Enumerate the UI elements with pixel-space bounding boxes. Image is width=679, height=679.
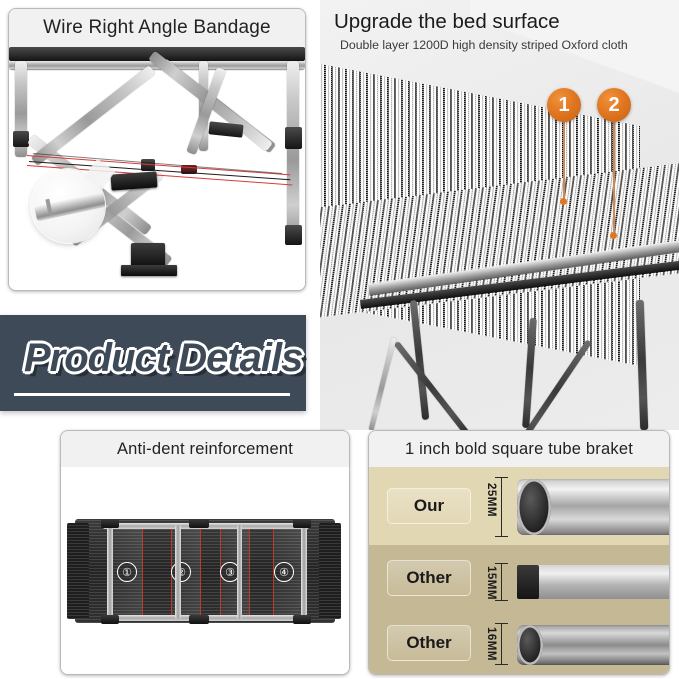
dent-marker-4: ④ [274, 562, 294, 582]
tube-cap-other-2 [517, 625, 543, 665]
tube-dimension-our: 25MM [485, 483, 497, 517]
cot-clip-bot-1 [101, 615, 119, 624]
dent-marker-2: ② [171, 562, 191, 582]
dim-bar-other-1 [501, 563, 502, 601]
dim-bar-other-2 [501, 623, 502, 665]
leg-left-cap [13, 131, 29, 147]
product-details-title: Product Details [24, 336, 306, 381]
wire-bandage-header: Wire Right Angle Bandage [9, 9, 305, 48]
anti-dent-title: Anti-dent reinforcement [117, 440, 293, 459]
tube-row-label-other-2: Other [387, 625, 471, 661]
cot-clip-top-2 [189, 519, 209, 528]
dim-cap-o1-top [495, 563, 508, 564]
dim-cap-o2-top [495, 623, 508, 624]
foot-center [110, 171, 157, 190]
leg-right [287, 61, 299, 241]
frame-brace-diagonal-1 [394, 341, 473, 430]
callout-dot-1 [560, 198, 567, 205]
tube-dimension-other-2: 16MM [485, 627, 497, 661]
tube-cap-other-1 [517, 565, 539, 599]
leg-right-cap-bottom [285, 225, 302, 245]
tube-cap-our [517, 479, 551, 535]
callout-number-2: 2 [608, 94, 619, 117]
dent-marker-label-4: ④ [279, 566, 289, 579]
cot-clip-bot-3 [293, 615, 311, 624]
dim-cap-o1-bottom [495, 600, 508, 601]
tube-dimension-other-1: 15MM [485, 566, 497, 600]
tube-bracket-panel: 1 inch bold square tube braket Our 25MM … [368, 430, 670, 675]
dim-bar-our [501, 477, 502, 537]
wire-bandage-panel: Wire Right Angle Bandage [8, 8, 306, 291]
cot-clip-top-3 [293, 519, 311, 528]
bed-surface-section: 1 2 Upgrade the bed surface Double layer… [320, 0, 679, 430]
cot-leg-4 [301, 525, 307, 619]
dent-marker-1: ① [117, 562, 137, 582]
joint-right [208, 121, 243, 137]
callout-number-1: 1 [558, 94, 569, 117]
tube-shape-other-1 [517, 565, 669, 599]
dim-cap-our-top [495, 477, 508, 478]
callout-leader-1 [563, 118, 565, 202]
tube-comparison-body: Our 25MM Other 15MM Other [369, 467, 669, 674]
leg-right-cap-top [285, 127, 302, 149]
cot-leg-2 [175, 525, 181, 619]
product-details-banner: Product Details [0, 315, 306, 411]
cot-leg-1 [107, 525, 113, 619]
cot-clip-top-1 [101, 519, 119, 528]
scissor-arm-2 [31, 65, 156, 166]
anti-dent-photo: ① ② ③ ④ [61, 467, 349, 674]
foot-bottom-plate [121, 265, 177, 276]
wire-bandage-photo [9, 47, 305, 290]
bed-surface-title: Upgrade the bed surface [334, 10, 560, 34]
anti-dent-panel: Anti-dent reinforcement ① ② ③ ④ [60, 430, 350, 675]
dent-marker-label-3: ③ [225, 566, 235, 579]
frame-brace-light [368, 337, 396, 430]
frame-leg-right [636, 300, 649, 430]
cot-wing-left [67, 523, 89, 619]
tube-row-label-our: Our [387, 488, 471, 524]
cot-clip-bot-2 [189, 615, 209, 624]
callout-leader-2 [613, 118, 615, 236]
cot-leg-3 [237, 525, 242, 619]
wire-bandage-title: Wire Right Angle Bandage [43, 17, 271, 39]
callout-marker-1: 1 [547, 88, 581, 122]
dim-cap-o2-bottom [495, 664, 508, 665]
bed-surface-subtitle: Double layer 1200D high density striped … [340, 38, 628, 52]
banner-underline [14, 393, 290, 396]
callout-dot-2 [610, 232, 617, 239]
tube-bracket-title: 1 inch bold square tube braket [405, 440, 633, 459]
tube-bracket-header: 1 inch bold square tube braket [369, 431, 669, 468]
infographic-canvas: 1 2 Upgrade the bed surface Double layer… [0, 0, 679, 679]
callout-marker-2: 2 [597, 88, 631, 122]
cot-top-view: ① ② ③ ④ [75, 519, 335, 623]
magnified-tube [34, 192, 105, 222]
tube-row-label-other-1: Other [387, 560, 471, 596]
dent-marker-label-1: ① [122, 566, 132, 579]
dim-cap-our-bottom [495, 536, 508, 537]
cot-wing-right [319, 523, 341, 619]
anti-dent-header: Anti-dent reinforcement [61, 431, 349, 468]
